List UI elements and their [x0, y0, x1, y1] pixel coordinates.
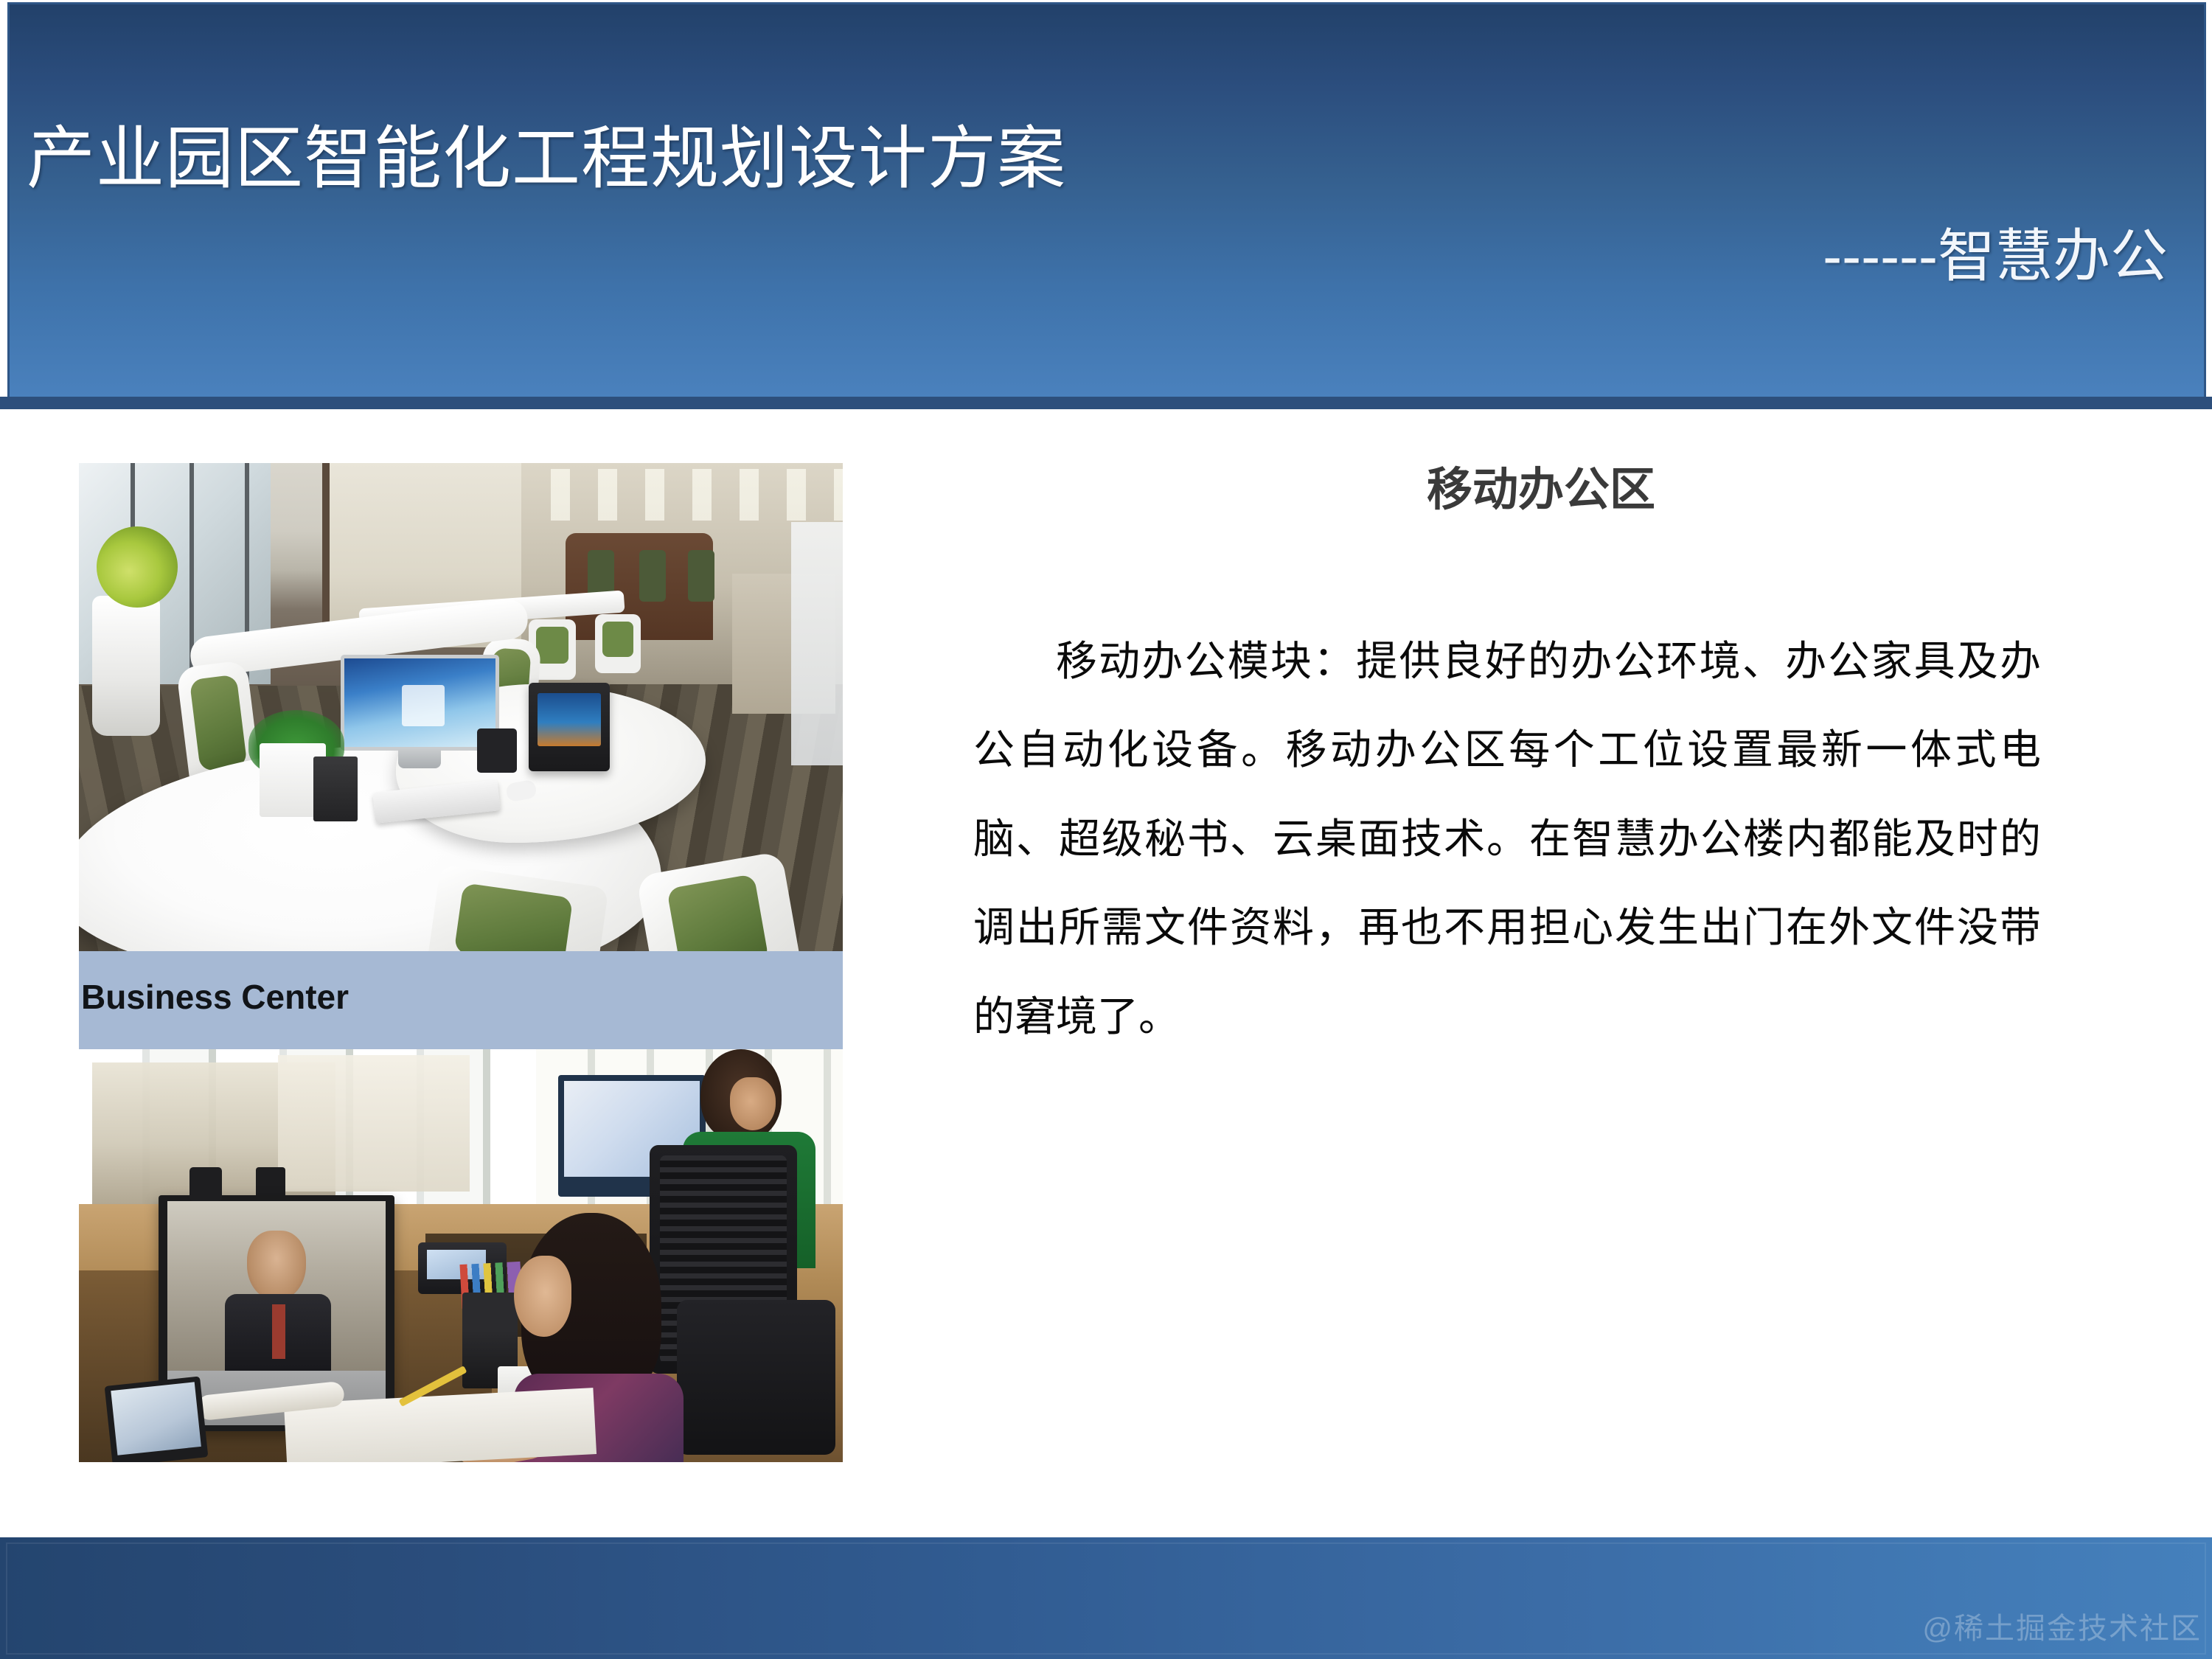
desk-phone — [529, 683, 610, 771]
imac-computer — [341, 655, 499, 769]
video-conference-image — [79, 1049, 843, 1462]
conference-camera — [189, 1167, 222, 1201]
wall-board — [791, 522, 843, 765]
smartphone — [477, 728, 517, 773]
building-exterior — [278, 1055, 470, 1192]
office-scene — [79, 463, 843, 951]
page-title: 产业园区智能化工程规划设计方案 — [27, 120, 1066, 197]
plant-foliage — [97, 526, 178, 608]
footer-inner-panel — [6, 1543, 2206, 1655]
image-caption-label: Business Center — [81, 977, 349, 1017]
video-conference-scene — [79, 1049, 843, 1462]
header-inner-panel — [7, 2, 2206, 399]
page-subtitle: ------智慧办公 — [1823, 225, 2168, 288]
watermark-label: @稀土掘金技术社区 — [1922, 1604, 2202, 1647]
tablet-device — [105, 1377, 209, 1462]
floor-planter — [92, 596, 160, 736]
mesh-office-chair — [677, 1300, 835, 1455]
header-band — [0, 0, 2212, 409]
pencil-cup — [313, 757, 358, 821]
seated-woman-face — [514, 1256, 571, 1337]
slide-canvas: 产业园区智能化工程规划设计方案 ------智慧办公 — [0, 0, 2212, 1659]
office-workstation-image — [79, 463, 843, 951]
far-chair — [595, 614, 641, 673]
ceiling-lights — [551, 469, 843, 521]
section-heading: 移动办公区 — [973, 463, 2109, 518]
header-underline — [0, 397, 2212, 409]
section-paragraph: 移动办公模块：提供良好的办公环境、办公家具及办公自动化设备。移动办公区每个工位设… — [973, 618, 2041, 1062]
